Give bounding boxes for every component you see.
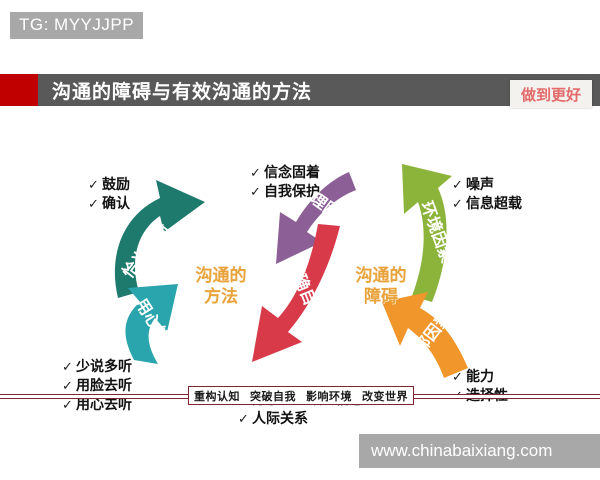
list-item-label: 信念固着 <box>264 165 320 181</box>
check-icon: ✓ <box>250 165 264 183</box>
list-item: ✓自我保护 <box>250 183 320 202</box>
bullet-group-bottom-left: ✓少说多听 ✓用脸去听 ✓用心去听 <box>62 358 132 415</box>
center-caption-barriers-line2: 障碍 <box>336 287 426 308</box>
check-icon: ✓ <box>452 369 466 387</box>
slide-canvas: 沟通的障碍与有效沟通的方法 做到更好 恰当反馈 用心倾听 <box>0 60 600 405</box>
footer-word-4: 改变世界 <box>362 388 408 404</box>
title-badge: 做到更好 <box>510 80 592 108</box>
slide-title: 沟通的障碍与有效沟通的方法 <box>52 77 312 104</box>
list-item-label: 噪声 <box>466 177 494 193</box>
footer-word-1: 重构认知 <box>194 388 240 404</box>
title-badge-label: 做到更好 <box>521 84 581 105</box>
list-item-label: 用脸去听 <box>76 378 132 394</box>
bullet-group-top-center: ✓信念固着 ✓自我保护 <box>250 164 320 202</box>
footer-word-2: 突破自我 <box>250 388 296 404</box>
list-item: ✓信念固着 <box>250 164 320 183</box>
list-item: ✓能力 <box>452 368 508 387</box>
list-item: ✓少说多听 <box>62 358 132 377</box>
list-item-label: 鼓励 <box>102 177 130 193</box>
arrow-attentive-listening: 用心倾听 <box>125 284 181 364</box>
center-caption-methods-line1: 沟通的 <box>176 266 266 287</box>
site-watermark-label: www.chinabaixiang.com <box>359 434 600 468</box>
list-item: ✓噪声 <box>452 176 522 195</box>
bullet-group-bottom-right: ✓能力 ✓选择性 <box>452 368 508 406</box>
title-accent-block <box>0 74 38 106</box>
list-item-label: 信息超载 <box>466 196 522 212</box>
center-caption-methods: 沟通的 方法 <box>176 266 266 309</box>
check-icon: ✓ <box>62 397 76 415</box>
check-icon: ✓ <box>62 359 76 377</box>
footer-word-3: 影响环境 <box>306 388 352 404</box>
list-item: ✓用脸去听 <box>62 377 132 396</box>
check-icon: ✓ <box>250 184 264 202</box>
center-caption-barriers: 沟通的 障碍 <box>336 266 426 309</box>
slide-title-bar: 沟通的障碍与有效沟通的方法 做到更好 <box>0 74 600 106</box>
list-item: ✓信息超载 <box>452 195 522 214</box>
list-item: ✓人际关系 <box>238 410 364 429</box>
check-icon: ✓ <box>88 177 102 195</box>
bullet-group-top-left: ✓鼓励 ✓确认 <box>88 176 130 214</box>
tg-watermark-label: TG: MYYJJPP <box>10 12 143 39</box>
list-item: ✓确认 <box>88 195 130 214</box>
bullet-group-top-right: ✓噪声 ✓信息超载 <box>452 176 522 214</box>
list-item-label: 能力 <box>466 369 494 385</box>
footer-tagline-box: 重构认知 突破自我 影响环境 改变世界 <box>188 386 414 405</box>
arrow-listening-tail <box>134 350 192 394</box>
check-icon: ✓ <box>88 196 102 214</box>
check-icon: ✓ <box>238 411 252 429</box>
list-item-label: 人际关系 <box>252 411 308 427</box>
list-item: ✓鼓励 <box>88 176 130 195</box>
center-caption-barriers-line1: 沟通的 <box>336 266 426 287</box>
center-caption-methods-line2: 方法 <box>176 287 266 308</box>
list-item-label: 确认 <box>102 196 130 212</box>
communication-cycle-diagram: 恰当反馈 用心倾听 心理因素 明确目标 <box>0 106 600 405</box>
list-item-label: 自我保护 <box>264 184 320 200</box>
check-icon: ✓ <box>62 378 76 396</box>
check-icon: ✓ <box>452 177 466 195</box>
list-item-label: 少说多听 <box>76 359 132 375</box>
check-icon: ✓ <box>452 196 466 214</box>
list-item-label: 用心去听 <box>76 397 132 413</box>
